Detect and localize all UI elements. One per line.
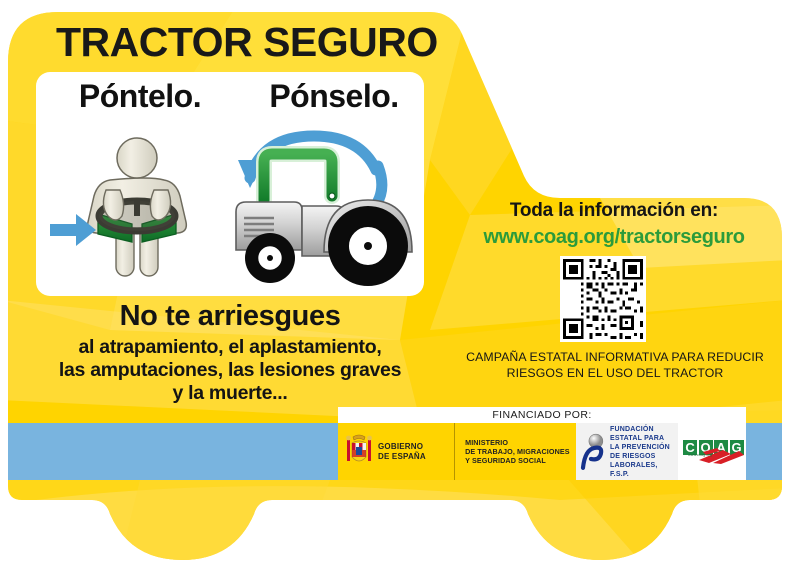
gobierno-label: GOBIERNO DE ESPAÑA (378, 442, 426, 461)
person-with-seatbelt-icon (48, 128, 224, 288)
slogan-line-3: y la muerte... (10, 382, 450, 405)
campaign-description: CAMPAÑA ESTATAL INFORMATIVA PARA REDUCIR… (440, 349, 788, 381)
campaign-line-1: CAMPAÑA ESTATAL INFORMATIVA PARA REDUCIR (440, 349, 788, 365)
logo-ministerio-de-trabajo: MINISTERIO DE TRABAJO, MIGRACIONES Y SEG… (454, 423, 576, 480)
qr-code[interactable] (560, 256, 646, 342)
panel-heading-right: Pónselo. (248, 78, 420, 115)
page-title: TRACTOR SEGURO (56, 22, 476, 63)
campaign-line-2: RIESGOS EN EL USO DEL TRACTOR (440, 365, 788, 381)
coag-website: www.coag.org (688, 453, 712, 457)
coag-wordmark: C O A G www.coag.org (683, 435, 745, 469)
spain-coat-of-arms-icon (344, 433, 374, 471)
tractor-with-rollbar-icon (228, 130, 432, 290)
logo-coag: C O A G www.coag.org (678, 423, 746, 480)
slogan-line-1: al atrapamiento, el aplastamiento, (10, 336, 450, 359)
funding-logo-strip: GOBIERNO DE ESPAÑA MINISTERIO DE TRABAJO… (338, 423, 746, 480)
campaign-url[interactable]: www.coag.org/tractorseguro (452, 226, 776, 249)
funding-title: FINANCIADO POR: (338, 407, 746, 423)
fundacion-symbol-icon (580, 432, 608, 472)
ministerio-label: MINISTERIO DE TRABAJO, MIGRACIONES Y SEG… (465, 438, 570, 465)
info-lead-text: Toda la información en: (452, 200, 776, 222)
poster-canvas: TRACTOR SEGURO Póntelo. Pónselo. (0, 0, 788, 561)
slogan-line-2: las amputaciones, las lesiones graves (10, 359, 450, 382)
slogan-sub: al atrapamiento, el aplastamiento, las a… (10, 336, 450, 405)
slogan-main: No te arriesgues (20, 300, 440, 333)
logo-fundacion-estatal: FUNDACIÓN ESTATAL PARA LA PREVENCIÓN DE … (576, 423, 678, 480)
logo-gobierno-de-espana: GOBIERNO DE ESPAÑA (338, 423, 454, 480)
panel-heading-left: Póntelo. (60, 78, 220, 115)
fundacion-label: FUNDACIÓN ESTATAL PARA LA PREVENCIÓN DE … (610, 425, 678, 479)
funding-title-bar: FINANCIADO POR: (338, 407, 746, 423)
